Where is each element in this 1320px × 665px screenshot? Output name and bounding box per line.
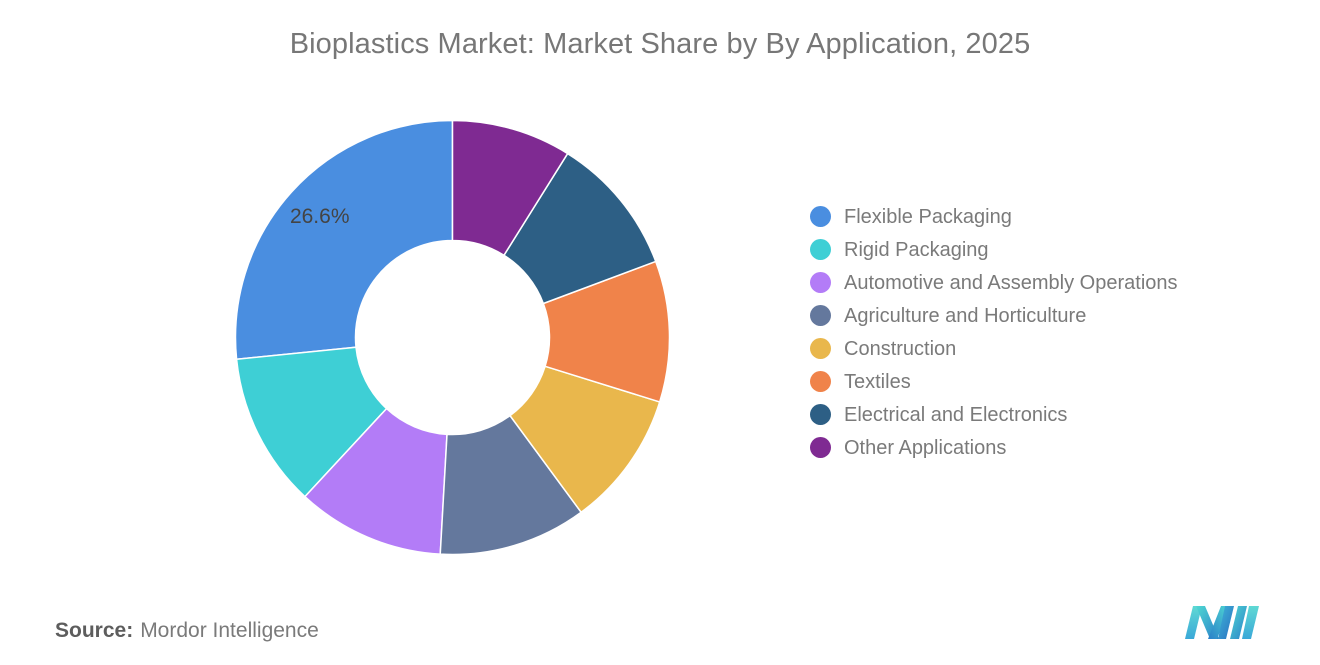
legend-swatch-icon [810, 338, 831, 359]
legend-item-label: Rigid Packaging [844, 240, 989, 260]
legend-swatch-icon [810, 239, 831, 260]
legend-swatch-icon [810, 404, 831, 425]
legend-swatch-icon [810, 437, 831, 458]
source-label: Source: [55, 619, 133, 642]
legend-item[interactable]: Textiles [810, 365, 1290, 398]
legend-item-label: Electrical and Electronics [844, 405, 1067, 425]
legend-item[interactable]: Flexible Packaging [810, 200, 1290, 233]
chart-title: Bioplastics Market: Market Share by By A… [0, 28, 1320, 61]
legend-item[interactable]: Construction [810, 332, 1290, 365]
donut-slice-label: 26.6% [290, 205, 350, 228]
legend-item-label: Agriculture and Horticulture [844, 306, 1086, 326]
source-value: Mordor Intelligence [140, 619, 319, 642]
legend-swatch-icon [810, 272, 831, 293]
legend-swatch-icon [810, 371, 831, 392]
donut-chart-svg: 26.6% [235, 120, 670, 555]
legend-item[interactable]: Automotive and Assembly Operations [810, 266, 1290, 299]
legend-item[interactable]: Rigid Packaging [810, 233, 1290, 266]
legend-item[interactable]: Other Applications [810, 431, 1290, 464]
legend-item-label: Construction [844, 339, 956, 359]
source-line: Source:Mordor Intelligence [55, 619, 319, 643]
legend-item-label: Automotive and Assembly Operations [844, 273, 1178, 293]
legend-item[interactable]: Agriculture and Horticulture [810, 299, 1290, 332]
legend-swatch-icon [810, 305, 831, 326]
donut-label-group: 26.6% [290, 205, 350, 228]
donut-slice[interactable] [236, 121, 453, 360]
donut-chart: 26.6% [235, 120, 670, 555]
legend-item[interactable]: Electrical and Electronics [810, 398, 1290, 431]
logo-svg [1183, 601, 1265, 643]
legend-swatch-icon [810, 206, 831, 227]
legend-item-label: Other Applications [844, 438, 1006, 458]
donut-slice-group [236, 121, 670, 555]
chart-legend: Flexible PackagingRigid PackagingAutomot… [810, 200, 1290, 464]
legend-item-label: Textiles [844, 372, 911, 392]
mordor-intelligence-logo-icon [1183, 601, 1265, 643]
legend-item-label: Flexible Packaging [844, 207, 1012, 227]
